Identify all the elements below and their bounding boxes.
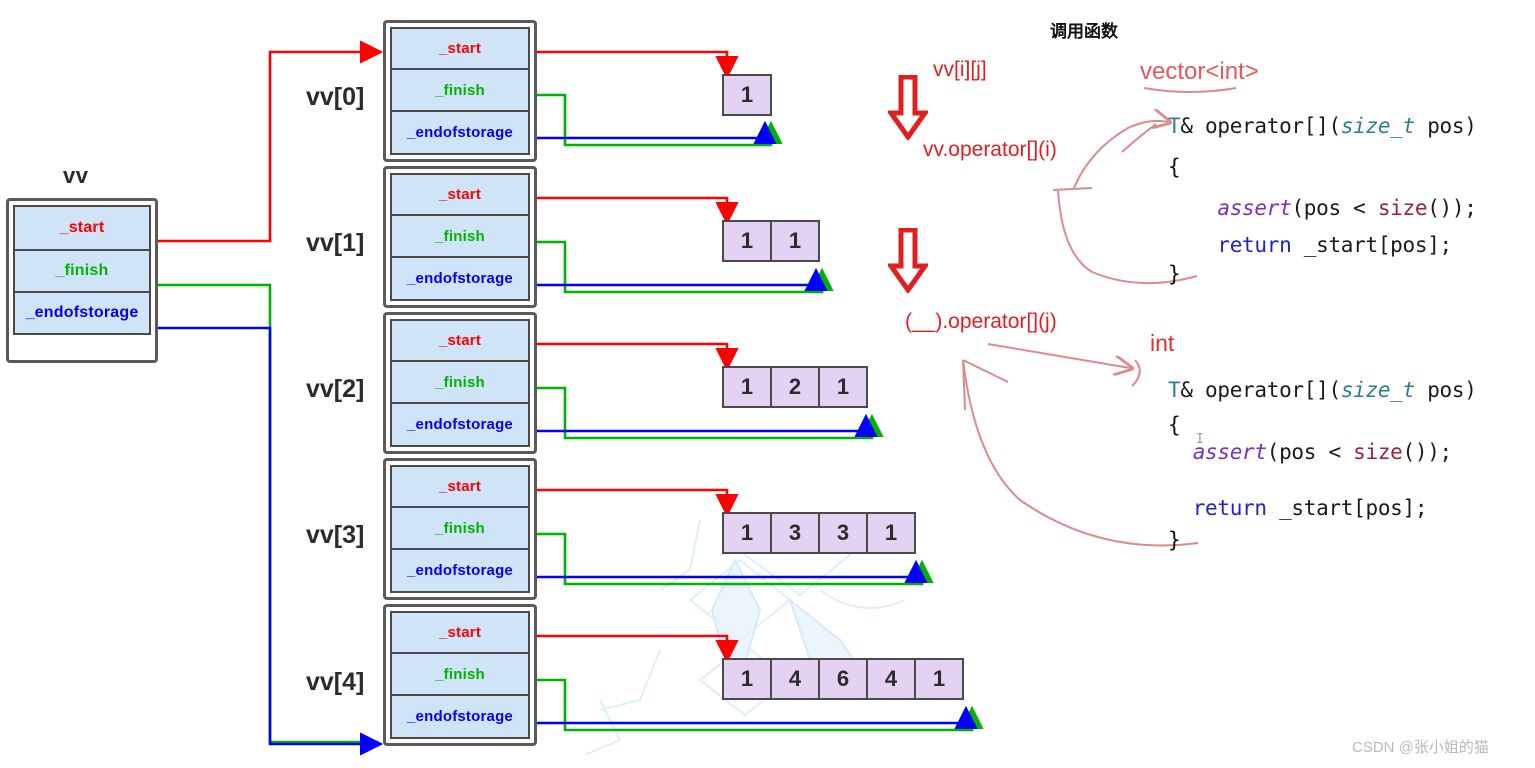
element-struct-1: _start _finish _endofstorage <box>383 166 537 308</box>
element-0-field-start: _start <box>390 27 530 70</box>
element-3-field-endofstorage: _endofstorage <box>390 548 530 593</box>
element-0-field-finish: _finish <box>390 68 530 112</box>
element-4-field-start: _start <box>390 611 530 654</box>
array-1-cell-0: 1 <box>722 220 772 262</box>
code-inner-line-1: { <box>1168 413 1180 437</box>
expression-inner-operator-j: (__).operator[](j) <box>905 310 1057 334</box>
element-4-field-finish: _finish <box>390 652 530 696</box>
code-inner-line-0: T& operator[](size_t pos) <box>1168 378 1477 402</box>
vv-field-endofstorage: _endofstorage <box>13 291 151 335</box>
code-inner-line-3: return _start[pos]; <box>1168 496 1427 520</box>
element-struct-3: _start _finish _endofstorage <box>383 458 537 600</box>
element-3-field-start: _start <box>390 465 530 508</box>
element-label-2: vv[2] <box>306 375 364 404</box>
element-4-field-endofstorage: _endofstorage <box>390 694 530 739</box>
array-4-cell-4: 1 <box>914 658 964 700</box>
array-4-cell-1: 4 <box>770 658 820 700</box>
array-3-cell-2: 3 <box>818 512 868 554</box>
vv-field-start: _start <box>13 205 151 251</box>
code-inner-line-4: } <box>1168 528 1180 552</box>
code-outer-line-0: T& operator[](size_t pos) <box>1168 114 1477 138</box>
data-array-3: 1 3 3 1 <box>722 512 916 554</box>
element-label-3: vv[3] <box>306 521 364 550</box>
element-2-field-finish: _finish <box>390 360 530 404</box>
element-label-1: vv[1] <box>306 229 364 258</box>
code-outer-line-2: assert(pos < size()); <box>1168 196 1477 220</box>
data-array-0: 1 <box>722 74 772 116</box>
element-label-0: vv[0] <box>306 83 364 112</box>
vv-field-finish: _finish <box>13 249 151 293</box>
element-2-field-start: _start <box>390 319 530 362</box>
array-4-cell-3: 4 <box>866 658 916 700</box>
array-2-cell-2: 1 <box>818 366 868 408</box>
array-3-cell-3: 1 <box>866 512 916 554</box>
down-arrow-icon-1 <box>888 75 928 140</box>
element-struct-4: _start _finish _endofstorage <box>383 604 537 746</box>
watermark-credit: CSDN @张小姐的猫 <box>1352 736 1489 757</box>
vv-struct-title: vv <box>63 163 88 189</box>
type-annotation-vector-int: vector<int> <box>1140 58 1259 86</box>
element-1-field-endofstorage: _endofstorage <box>390 256 530 301</box>
code-outer-line-1: { <box>1168 155 1180 179</box>
array-3-cell-0: 1 <box>722 512 772 554</box>
expression-vvij: vv[i][j] <box>933 58 987 82</box>
code-outer-line-3: return _start[pos]; <box>1168 233 1452 257</box>
vv-struct-box: _start _finish _endofstorage <box>6 198 158 363</box>
text-cursor-icon: I <box>1196 432 1204 447</box>
array-1-cell-1: 1 <box>770 220 820 262</box>
element-3-field-finish: _finish <box>390 506 530 550</box>
data-array-4: 1 4 6 4 1 <box>722 658 964 700</box>
code-inner-line-2: assert(pos < size()); <box>1168 440 1452 464</box>
element-2-field-endofstorage: _endofstorage <box>390 402 530 447</box>
element-struct-0: _start _finish _endofstorage <box>383 20 537 162</box>
type-annotation-int: int <box>1150 330 1174 357</box>
data-array-1: 1 1 <box>722 220 820 262</box>
element-0-field-endofstorage: _endofstorage <box>390 110 530 155</box>
element-label-4: vv[4] <box>306 668 364 697</box>
element-struct-2: _start _finish _endofstorage <box>383 312 537 454</box>
data-array-2: 1 2 1 <box>722 366 868 408</box>
array-4-cell-2: 6 <box>818 658 868 700</box>
array-0-cell-0: 1 <box>722 74 772 116</box>
code-outer-line-4: } <box>1168 262 1180 286</box>
expression-vv-operator-i: vv.operator[](i) <box>923 138 1057 162</box>
down-arrow-icon-2 <box>888 228 928 293</box>
array-3-cell-1: 3 <box>770 512 820 554</box>
array-2-cell-0: 1 <box>722 366 772 408</box>
array-2-cell-1: 2 <box>770 366 820 408</box>
element-1-field-finish: _finish <box>390 214 530 258</box>
array-4-cell-0: 1 <box>722 658 772 700</box>
diagram-canvas: vv _start _finish _endofstorage vv[0] _s… <box>0 0 1535 768</box>
element-1-field-start: _start <box>390 173 530 216</box>
section-title: 调用函数 <box>1050 17 1118 42</box>
